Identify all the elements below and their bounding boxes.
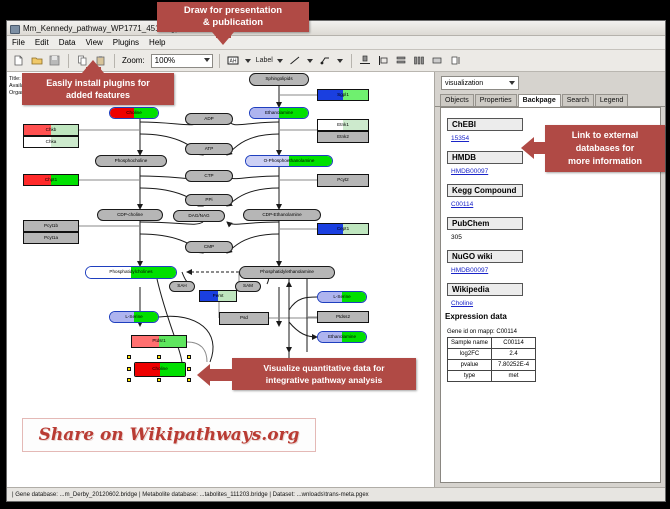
tab-backpage[interactable]: Backpage bbox=[518, 94, 561, 107]
metabolite-node-o-phosphoeth[interactable]: O-Phosphoethanolamine bbox=[245, 155, 333, 167]
svg-text:AH: AH bbox=[230, 59, 237, 65]
node-label: SAM bbox=[243, 284, 253, 289]
table-row: log2FC2.4 bbox=[448, 349, 536, 360]
node-label: Pemt bbox=[213, 294, 224, 299]
visualization-combobox[interactable]: visualization bbox=[441, 76, 519, 90]
gene-node-chpt1[interactable]: Chpt1 bbox=[23, 174, 79, 186]
node-label: Sphingolipids bbox=[265, 77, 292, 82]
node-label: Phosphocholine bbox=[115, 159, 148, 164]
window-titlebar: Mm_Kennedy_pathway_WP1771_45176.gpml bbox=[7, 21, 665, 36]
annotation-visualize-arrowstem bbox=[210, 369, 234, 381]
common-height-icon[interactable] bbox=[448, 53, 463, 68]
node-label: Chpt1 bbox=[45, 178, 57, 183]
annotation-visualize-line1: Visualize quantitative data for bbox=[263, 362, 384, 374]
toolbar-separator-1 bbox=[68, 54, 69, 68]
annotation-draw-callout: Draw for presentation & publication bbox=[157, 2, 309, 32]
tab-legend[interactable]: Legend bbox=[595, 94, 628, 106]
datanode-dropdown[interactable] bbox=[244, 54, 253, 68]
align-left-icon[interactable] bbox=[376, 53, 391, 68]
menu-data[interactable]: Data bbox=[58, 38, 77, 47]
menubar: File Edit Data View Plugins Help bbox=[7, 36, 665, 50]
new-file-icon[interactable] bbox=[11, 53, 26, 68]
gene-node-pcyt2[interactable]: Pcyt2 bbox=[317, 174, 369, 187]
resize-handle-4[interactable] bbox=[187, 367, 191, 371]
tab-label: Backpage bbox=[523, 97, 556, 104]
node-label: SAH bbox=[177, 284, 186, 289]
db-link[interactable]: HMDB00097 bbox=[451, 267, 660, 274]
metabolite-node-ctp[interactable]: CTP bbox=[185, 170, 233, 182]
node-label: Chka bbox=[46, 140, 57, 145]
annotation-share-text: Share on Wikipathways.org bbox=[39, 425, 300, 445]
menu-help[interactable]: Help bbox=[148, 38, 166, 47]
annotation-links-line2: databases for bbox=[576, 142, 635, 155]
tab-label: Objects bbox=[445, 97, 469, 104]
toolbar-separator-3 bbox=[219, 54, 220, 68]
gene-node-etnk1[interactable]: Etnk1 bbox=[317, 119, 369, 131]
node-label: L-Serine bbox=[125, 315, 142, 320]
expression-data-table: Sample nameC00114log2FC2.4pvalue7.80252E… bbox=[447, 337, 536, 382]
node-label: Pcyt2 bbox=[337, 178, 349, 183]
node-label: Phosphatidylcholines bbox=[109, 270, 152, 275]
node-label: Chkb bbox=[46, 128, 57, 133]
node-label: Ptdss2 bbox=[336, 315, 350, 320]
db-name: ChEBI bbox=[447, 118, 523, 131]
resize-handle-1[interactable] bbox=[157, 355, 161, 359]
node-label: ADP bbox=[204, 117, 213, 122]
annotation-plugins-arrowstem bbox=[86, 67, 101, 75]
db-name: PubChem bbox=[447, 217, 523, 230]
db-value: 305 bbox=[451, 234, 660, 241]
metabolite-node-cdp-choline[interactable]: CDP-choline bbox=[97, 209, 163, 221]
label-tool-label: Label bbox=[256, 57, 273, 64]
tab-label: Legend bbox=[600, 97, 623, 104]
node-label: CMP bbox=[204, 245, 214, 250]
node-label: Etnk1 bbox=[337, 123, 349, 128]
metabolite-node-ptdethanolamine[interactable]: Phosphatidylethanolamine bbox=[239, 266, 335, 279]
node-label: L-Serine bbox=[333, 295, 350, 300]
annotation-draw-line1: Draw for presentation bbox=[184, 5, 282, 17]
interaction-icon[interactable] bbox=[318, 53, 333, 68]
node-label: Pcyt1b bbox=[44, 224, 58, 229]
metabolite-node-ppi[interactable]: PPi bbox=[185, 194, 233, 206]
node-label: Psd bbox=[240, 316, 248, 321]
metabolite-node-dagnag[interactable]: DAG/NAG bbox=[173, 210, 225, 222]
annotation-links-line1: Link to external bbox=[572, 129, 639, 142]
distribute-icon[interactable] bbox=[412, 53, 427, 68]
gene-node-pemt[interactable]: Pemt bbox=[199, 290, 237, 302]
gene-node-ptdss2[interactable]: Ptdss2 bbox=[317, 311, 369, 323]
tab-search[interactable]: Search bbox=[562, 94, 594, 106]
metabolite-node-l-serine-left[interactable]: L-Serine bbox=[109, 311, 159, 323]
annotation-links-arrowhead bbox=[521, 137, 534, 159]
gene-node-chka[interactable]: Chka bbox=[23, 136, 79, 148]
gene-node-pcyt1a[interactable]: Pcyt1a bbox=[23, 232, 79, 244]
gene-node-cept1[interactable]: Cept1 bbox=[317, 223, 369, 235]
metabolite-node-cdp-ethanolamine[interactable]: CDP-Ethanolamine bbox=[243, 209, 321, 221]
node-label: Ptdsr1 bbox=[152, 339, 165, 344]
node-label: O-Phosphoethanolamine bbox=[264, 159, 315, 164]
expr-value: C00114 bbox=[492, 338, 536, 349]
db-name: Kegg Compound bbox=[447, 184, 523, 197]
annotation-draw-line2: & publication bbox=[203, 17, 263, 29]
main-toolbar: Zoom: 100% AH Label bbox=[7, 50, 665, 72]
visualization-row: visualization bbox=[435, 72, 665, 94]
node-label: Ethanolamine bbox=[328, 335, 356, 340]
line-dropdown[interactable] bbox=[306, 54, 315, 68]
node-label: Choline bbox=[126, 111, 142, 116]
save-icon[interactable] bbox=[47, 53, 62, 68]
node-label: CDP-Ethanolamine bbox=[262, 213, 301, 218]
align-bottom-icon[interactable] bbox=[358, 53, 373, 68]
node-label: Etnk2 bbox=[337, 135, 349, 140]
annotation-visualize-callout: Visualize quantitative data for integrat… bbox=[232, 358, 416, 390]
gene-node-pcyt1b[interactable]: Pcyt1b bbox=[23, 220, 79, 232]
open-folder-icon[interactable] bbox=[29, 53, 44, 68]
metabolite-node-sphingolipids[interactable]: Sphingolipids bbox=[249, 73, 309, 86]
zoom-value: 100% bbox=[155, 56, 175, 65]
resize-handle-7[interactable] bbox=[187, 378, 191, 382]
interaction-dropdown[interactable] bbox=[336, 54, 345, 68]
status-text: | Gene database: ...m_Derby_20120602.bri… bbox=[12, 492, 369, 498]
gene-node-psd[interactable]: Psd bbox=[219, 312, 269, 325]
status-bar: | Gene database: ...m_Derby_20120602.bri… bbox=[7, 487, 665, 501]
resize-handle-2[interactable] bbox=[187, 355, 191, 359]
node-label: Phosphatidylethanolamine bbox=[260, 270, 314, 275]
annotation-links-line3: more information bbox=[568, 155, 642, 168]
node-label: CDP-choline bbox=[117, 213, 143, 218]
metabolite-node-l-serine-right[interactable]: L-Serine bbox=[317, 291, 367, 303]
expr-key: log2FC bbox=[448, 349, 492, 360]
annotation-links-arrowstem bbox=[534, 142, 548, 154]
node-label: Ethanolamine bbox=[265, 111, 293, 116]
expr-value: 7.80252E-4 bbox=[492, 360, 536, 371]
metabolite-node-ethanolamine-2[interactable]: Ethanolamine bbox=[317, 331, 367, 343]
toolbar-separator-4 bbox=[351, 54, 352, 68]
visualization-value: visualization bbox=[445, 80, 483, 87]
annotation-draw-arrowstem bbox=[216, 32, 231, 38]
label-dropdown[interactable] bbox=[276, 54, 285, 68]
side-panel-tabs: ObjectsPropertiesBackpageSearchLegend bbox=[435, 94, 665, 107]
screenshot-root: Mm_Kennedy_pathway_WP1771_45176.gpml Fil… bbox=[0, 0, 670, 509]
annotation-plugins-callout: Easily install plugins for added feature… bbox=[22, 73, 174, 105]
pathvisio-app-icon bbox=[10, 24, 19, 33]
gene-node-chkb[interactable]: Chkb bbox=[23, 124, 79, 136]
expr-key: Sample name bbox=[448, 338, 492, 349]
tab-label: Search bbox=[567, 97, 589, 104]
line-icon[interactable] bbox=[288, 53, 303, 68]
db-name: HMDB bbox=[447, 151, 523, 164]
menu-edit[interactable]: Edit bbox=[34, 38, 50, 47]
node-label: DAG/NAG bbox=[188, 214, 209, 219]
metabolite-node-atp[interactable]: ATP bbox=[185, 143, 233, 155]
db-link[interactable]: C00114 bbox=[451, 201, 660, 208]
metabolite-node-choline-top[interactable]: Choline bbox=[109, 107, 159, 119]
node-label: Choline bbox=[152, 367, 168, 372]
metabolite-node-ethanolamine[interactable]: Ethanolamine bbox=[249, 107, 309, 119]
resize-handle-0[interactable] bbox=[127, 355, 131, 359]
chevron-down-icon bbox=[204, 58, 210, 62]
datanode-icon[interactable]: AH bbox=[226, 53, 241, 68]
annotation-visualize-arrowhead bbox=[197, 364, 210, 386]
node-label: ATP bbox=[205, 147, 214, 152]
expr-key: pvalue bbox=[448, 360, 492, 371]
metabolite-node-phosphocholine[interactable]: Phosphocholine bbox=[95, 155, 167, 167]
resize-handle-6[interactable] bbox=[157, 378, 161, 382]
gene-node-etnk2[interactable]: Etnk2 bbox=[317, 131, 369, 143]
db-name: Wikipedia bbox=[447, 283, 523, 296]
zoom-label: Zoom: bbox=[122, 56, 145, 65]
metabolite-node-cmp[interactable]: CMP bbox=[185, 241, 233, 253]
db-block-kegg-compound: Kegg CompoundC00114 bbox=[441, 180, 660, 208]
db-block-wikipedia: WikipediaCholine bbox=[441, 279, 660, 307]
annotation-plugins-line2: added features bbox=[66, 89, 130, 101]
expr-value: met bbox=[492, 371, 536, 382]
metabolite-node-adp[interactable]: ADP bbox=[185, 113, 233, 125]
node-label: Sgpl1 bbox=[337, 93, 349, 98]
toolbar-separator-2 bbox=[114, 54, 115, 68]
table-row: Sample nameC00114 bbox=[448, 338, 536, 349]
node-label: CTP bbox=[204, 174, 213, 179]
metabolite-node-sam[interactable]: SAM bbox=[235, 281, 261, 292]
tab-label: Properties bbox=[480, 97, 512, 104]
menu-view[interactable]: View bbox=[85, 38, 104, 47]
db-link[interactable]: Choline bbox=[451, 300, 660, 307]
expr-value: 2.4 bbox=[492, 349, 536, 360]
menu-file[interactable]: File bbox=[11, 38, 26, 47]
tab-properties[interactable]: Properties bbox=[475, 94, 517, 106]
annotation-visualize-line2: integrative pathway analysis bbox=[266, 374, 383, 386]
db-block-nugo-wiki: NuGO wikiHMDB00097 bbox=[441, 246, 660, 274]
expr-key: type bbox=[448, 371, 492, 382]
metabolite-node-sah[interactable]: SAH bbox=[169, 281, 195, 292]
resize-handle-5[interactable] bbox=[127, 378, 131, 382]
annotation-share-banner: Share on Wikipathways.org bbox=[22, 418, 316, 452]
zoom-combobox[interactable]: 100% bbox=[151, 54, 213, 68]
db-block-pubchem: PubChem305 bbox=[441, 213, 660, 241]
stack-center-icon[interactable] bbox=[394, 53, 409, 68]
node-label: PPi bbox=[205, 198, 212, 203]
table-row: pvalue7.80252E-4 bbox=[448, 360, 536, 371]
metabolite-node-ptdcholines[interactable]: Phosphatidylcholines bbox=[85, 266, 177, 279]
expression-data-heading: Expression data bbox=[441, 312, 660, 321]
gene-id-line: Gene id on mapp: C00114 bbox=[441, 329, 660, 335]
table-row: typemet bbox=[448, 371, 536, 382]
annotation-links-callout: Link to external databases for more info… bbox=[545, 125, 665, 172]
gene-node-sgpl1[interactable]: Sgpl1 bbox=[317, 89, 369, 101]
db-name: NuGO wiki bbox=[447, 250, 523, 263]
annotation-plugins-line1: Easily install plugins for bbox=[46, 77, 150, 89]
gene-node-ptdsr1[interactable]: Ptdsr1 bbox=[131, 335, 187, 348]
chevron-down-icon bbox=[509, 81, 515, 85]
tab-objects[interactable]: Objects bbox=[440, 94, 474, 106]
node-label: Pcyt1a bbox=[44, 236, 58, 241]
menu-plugins[interactable]: Plugins bbox=[112, 38, 140, 47]
common-width-icon[interactable] bbox=[430, 53, 445, 68]
node-label: Cept1 bbox=[337, 227, 349, 232]
resize-handle-3[interactable] bbox=[127, 367, 131, 371]
